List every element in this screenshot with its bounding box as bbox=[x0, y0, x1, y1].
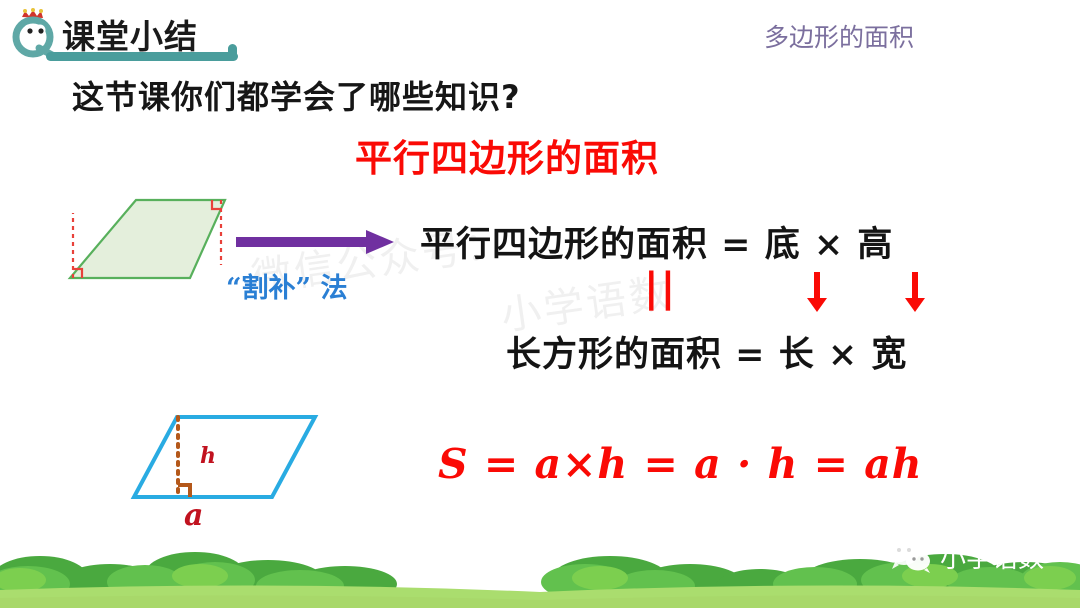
final-area-equation: S = a×h = a · h = ah bbox=[438, 440, 923, 488]
topic-label: 多边形的面积 bbox=[764, 18, 914, 54]
title-underline bbox=[46, 52, 238, 61]
down-arrow-icon-base bbox=[805, 272, 829, 314]
parallelogram-area-formula: 平行四边形的面积 = 底 × 高 bbox=[420, 216, 893, 267]
page-title: 课堂小结 bbox=[62, 10, 198, 58]
slide-canvas: 微信公众号： 小学语数 课堂小结 多边形的面积 这节课你们都学会了哪些知识? 平… bbox=[0, 0, 1080, 608]
wechat-account-name: 小学语数 bbox=[940, 538, 1044, 575]
wechat-icon bbox=[888, 540, 932, 574]
question-text: 这节课你们都学会了哪些知识? bbox=[72, 72, 521, 118]
svg-text:h: h bbox=[200, 443, 216, 469]
blue-parallelogram: h a bbox=[118, 405, 348, 530]
green-parallelogram bbox=[55, 185, 255, 295]
right-arrow-icon bbox=[236, 228, 396, 256]
cut-paste-method-label: “割补” 法 bbox=[226, 266, 347, 305]
section-title: 平行四边形的面积 bbox=[355, 128, 659, 182]
rectangle-area-formula: 长方形的面积 = 长 × 宽 bbox=[506, 326, 907, 377]
svg-text:a: a bbox=[184, 498, 203, 530]
equivalence-bars: || bbox=[644, 268, 677, 308]
down-arrow-icon-height bbox=[903, 272, 927, 314]
title-underline-cap bbox=[228, 44, 237, 59]
wechat-account-badge: 小学语数 bbox=[888, 538, 1044, 575]
